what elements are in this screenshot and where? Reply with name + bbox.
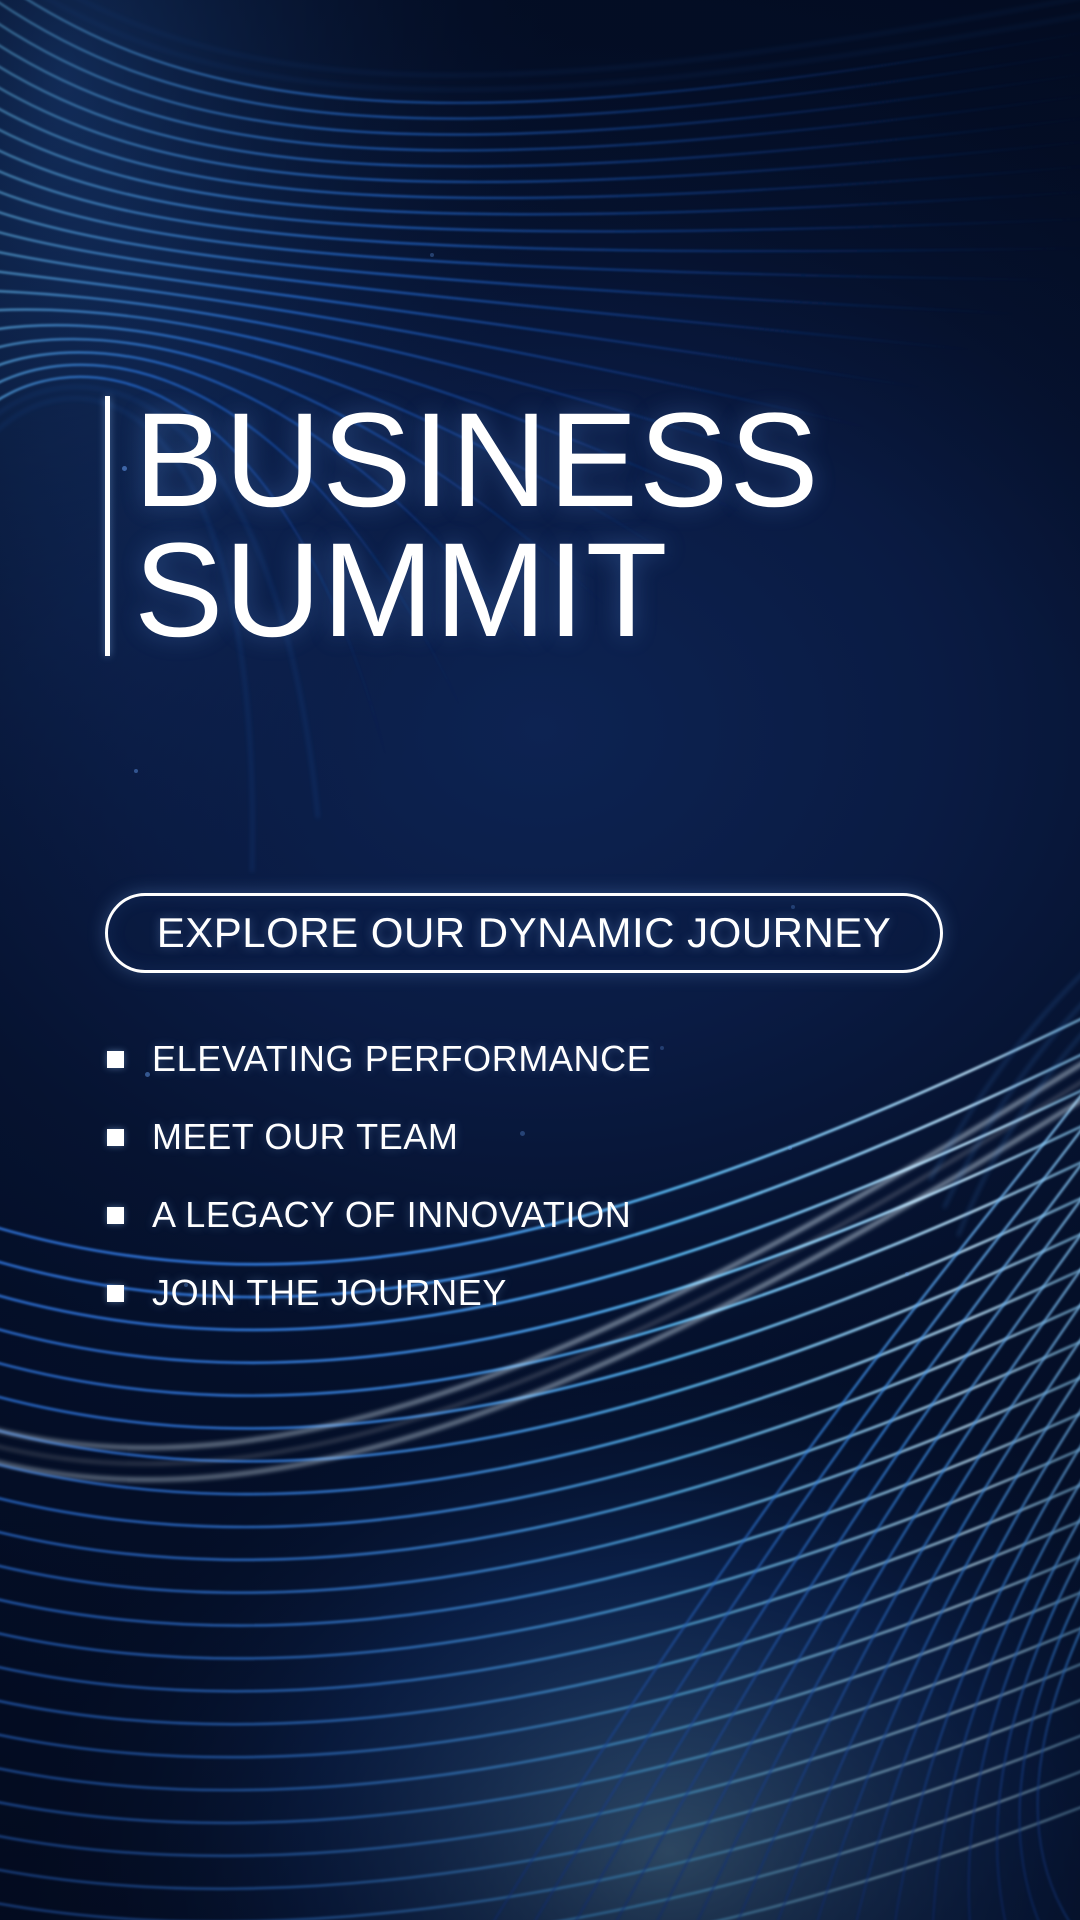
list-item[interactable]: ELEVATING PERFORMANCE — [107, 1020, 651, 1098]
square-bullet-icon — [107, 1207, 124, 1224]
title-accent-bar — [105, 396, 110, 656]
sparkle-dot — [660, 1046, 664, 1050]
agenda-list: ELEVATING PERFORMANCE MEET OUR TEAM A LE… — [107, 1020, 651, 1332]
list-item-label: A LEGACY OF INNOVATION — [152, 1194, 631, 1236]
explore-journey-button-label: EXPLORE OUR DYNAMIC JOURNEY — [157, 909, 892, 957]
sparkle-dot — [134, 769, 138, 773]
list-item[interactable]: A LEGACY OF INNOVATION — [107, 1176, 651, 1254]
list-item[interactable]: MEET OUR TEAM — [107, 1098, 651, 1176]
square-bullet-icon — [107, 1129, 124, 1146]
sparkle-dot — [905, 1272, 909, 1276]
poster-canvas: BUSINESS SUMMIT EXPLORE OUR DYNAMIC JOUR… — [0, 0, 1080, 1920]
page-title: BUSINESS SUMMIT — [105, 396, 820, 656]
list-item-label: MEET OUR TEAM — [152, 1116, 459, 1158]
list-item-label: JOIN THE JOURNEY — [152, 1272, 507, 1314]
list-item[interactable]: JOIN THE JOURNEY — [107, 1254, 651, 1332]
title-line-1: BUSINESS — [134, 396, 820, 526]
sparkle-dot — [430, 253, 434, 257]
sparkle-dot — [788, 1146, 792, 1150]
square-bullet-icon — [107, 1051, 124, 1068]
square-bullet-icon — [107, 1285, 124, 1302]
title-line-2: SUMMIT — [134, 526, 820, 656]
list-item-label: ELEVATING PERFORMANCE — [152, 1038, 651, 1080]
title-lines: BUSINESS SUMMIT — [134, 396, 820, 656]
explore-journey-button[interactable]: EXPLORE OUR DYNAMIC JOURNEY — [105, 893, 943, 973]
